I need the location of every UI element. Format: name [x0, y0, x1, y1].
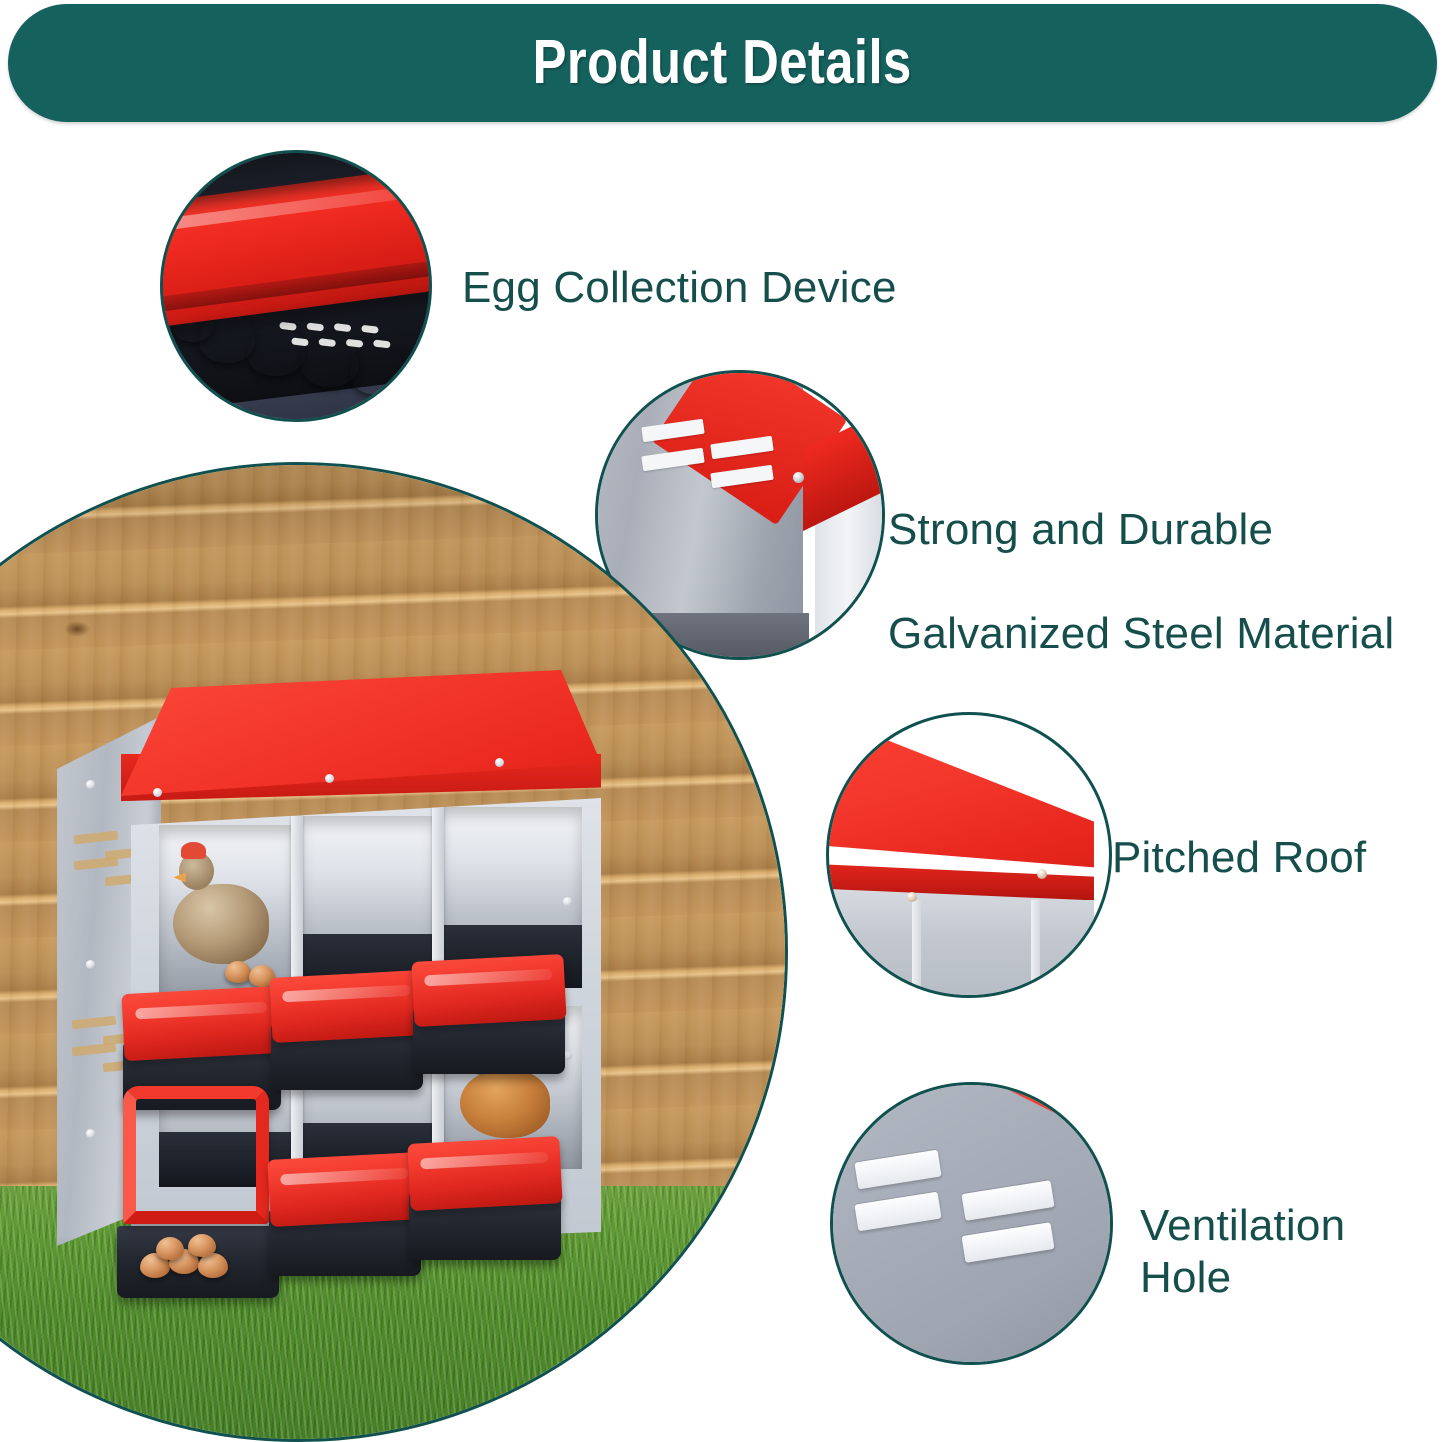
egg-tray[interactable]: [413, 958, 565, 1074]
feature-label-galvanized-steel-material: Strong and Durable Galvanized Steel Mate…: [888, 452, 1394, 660]
hen-top-left: [173, 852, 269, 964]
egg-tray[interactable]: [269, 1156, 421, 1276]
feature-label-line-1: Strong and Durable: [888, 505, 1273, 554]
feature-label-ventilation-hole: Ventilation Hole: [1140, 1200, 1445, 1304]
page-header-banner: Product Details: [8, 4, 1437, 122]
egg-tray[interactable]: [409, 1140, 561, 1260]
page-title: Product Details: [533, 32, 912, 94]
feature-image-ventilation-hole: [830, 1082, 1113, 1365]
product-hero-photo: [0, 462, 788, 1442]
feature-label-line-2: Galvanized Steel Material: [888, 609, 1394, 658]
feature-image-egg-collection-device: [160, 150, 432, 422]
tray-handle[interactable]: [123, 1086, 269, 1225]
egg-tray-open[interactable]: [117, 1170, 279, 1298]
feature-label-pitched-roof: Pitched Roof: [1112, 832, 1366, 884]
egg-tray[interactable]: [271, 974, 423, 1090]
feature-image-pitched-roof: [826, 712, 1112, 998]
chicken-nesting-box: [57, 670, 617, 1290]
infographic-canvas: Product Details Egg: [0, 0, 1445, 1417]
feature-label-egg-collection-device: Egg Collection Device: [462, 262, 897, 314]
